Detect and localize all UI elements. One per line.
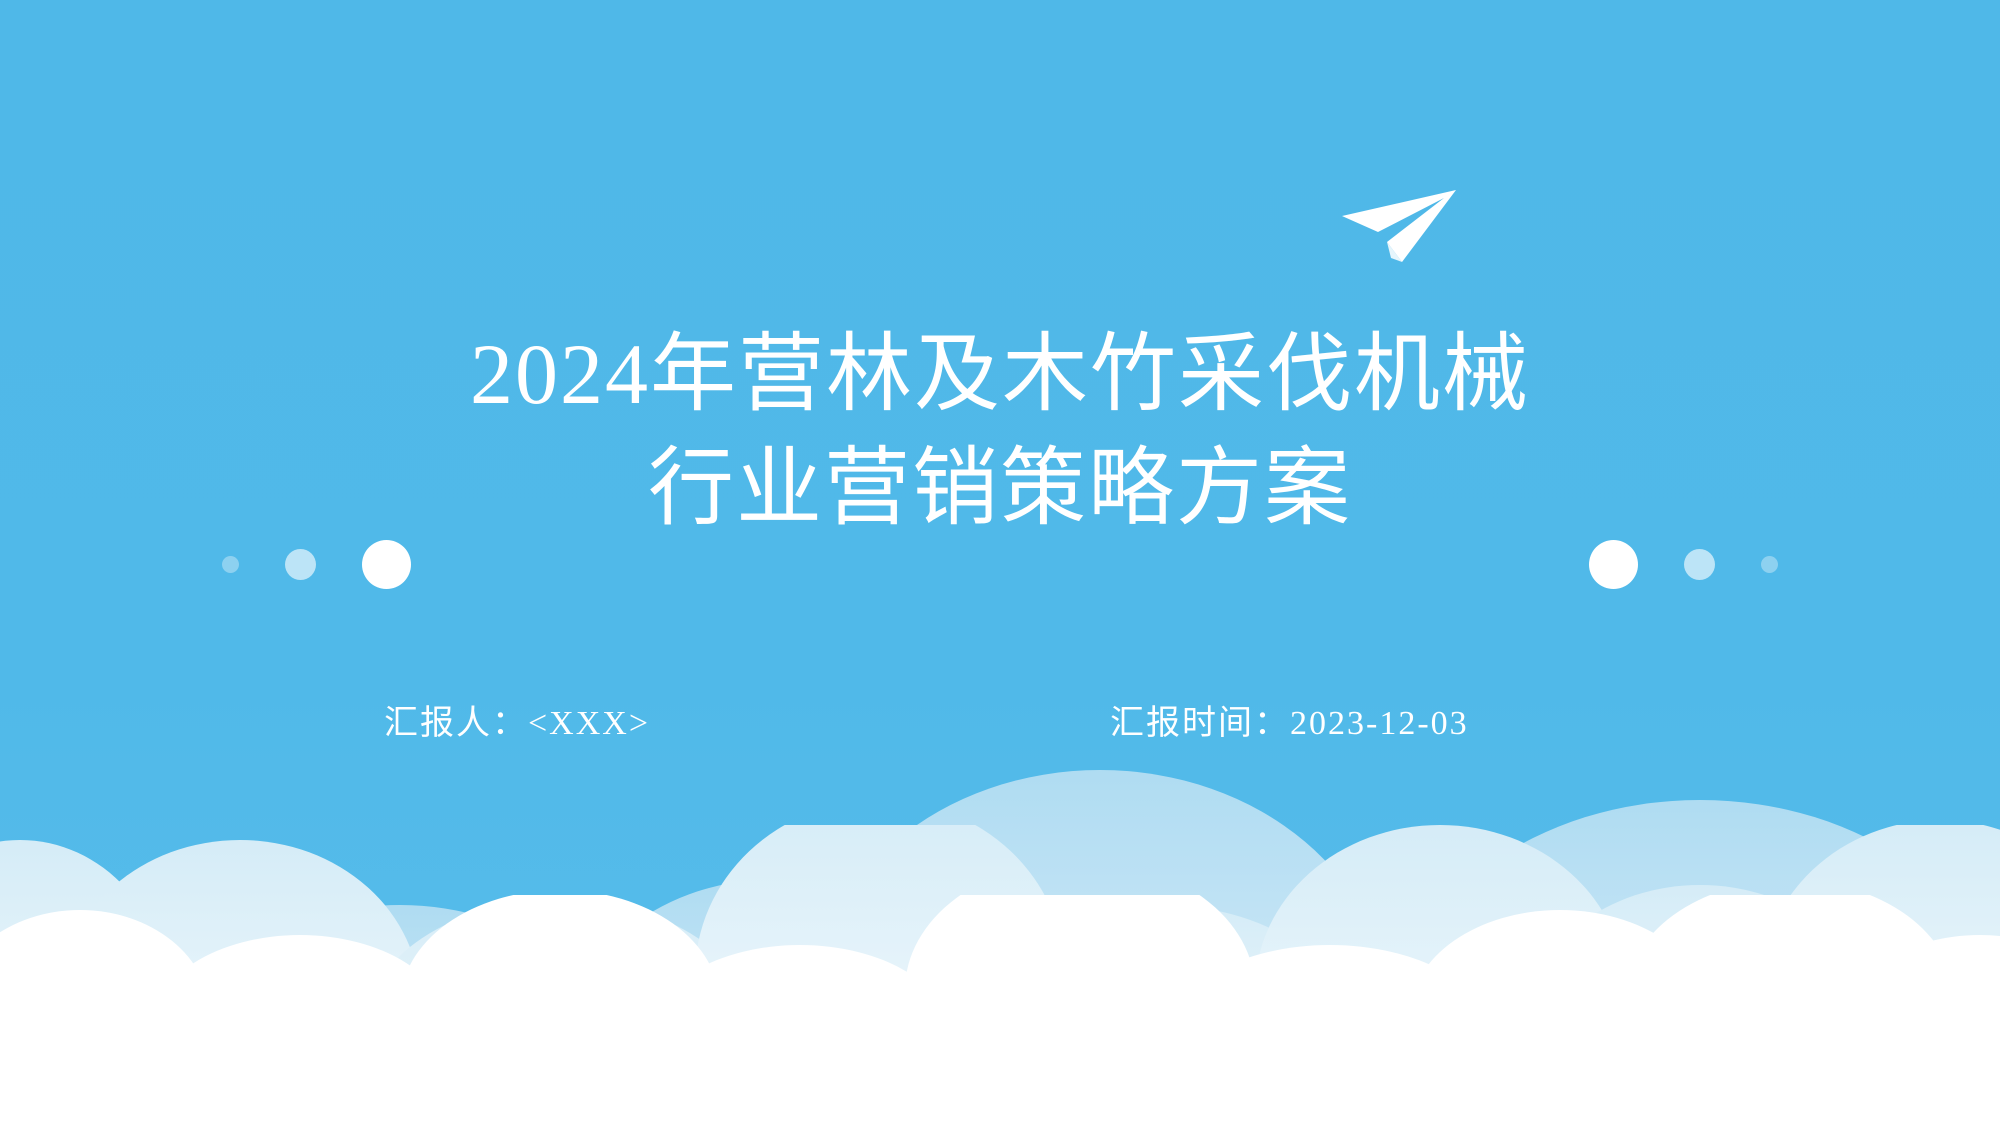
title-line-2: 行业营销策略方案 [0, 432, 2000, 546]
report-date-label: 汇报时间：2023-12-03 [1110, 695, 1469, 744]
decor-dots-right [1589, 540, 1778, 589]
decor-dot-small [1761, 556, 1778, 573]
decor-dot-medium [285, 549, 316, 580]
title-slide: 2024年营林及木竹采伐机械 行业营销策略方案 汇报人：<XXX> 汇报时间：2… [0, 0, 2000, 1125]
decor-dots-left [222, 540, 411, 589]
presenter-label: 汇报人：<XXX> [384, 695, 650, 744]
decor-dot-small [222, 556, 239, 573]
decor-dot-medium [1684, 549, 1715, 580]
title-line-1: 2024年营林及木竹采伐机械 [0, 318, 2000, 432]
paper-plane-icon [1340, 188, 1458, 266]
decor-dot-large [362, 540, 411, 589]
decor-dot-large [1589, 540, 1638, 589]
slide-title: 2024年营林及木竹采伐机械 行业营销策略方案 [0, 318, 2000, 545]
